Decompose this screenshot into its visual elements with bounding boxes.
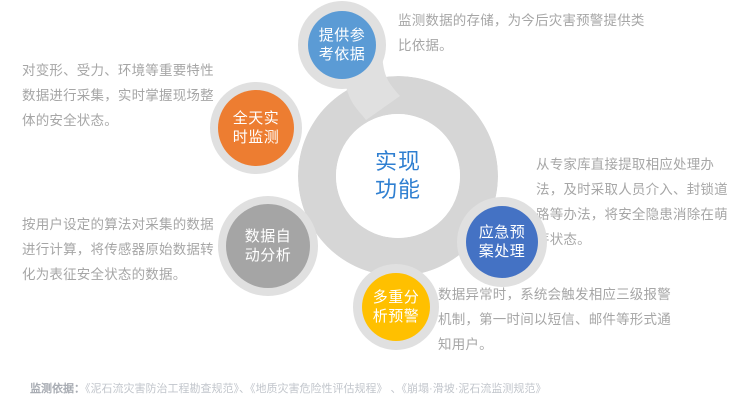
- function-hub-diagram: 实现 功能 提供参 考依据 全天实 时监测 数据自 动分析 多重分 析预警 应急…: [200, 0, 600, 370]
- footer-note-label: 监测依据：: [30, 383, 85, 395]
- footer-note-text: 《泥石流灾害防治工程勘查规范》、《地质灾害危险性评估规程》 、《崩塌·滑坡·泥石…: [85, 383, 546, 395]
- description-data-analysis: 按用户设定的算法对采集的数据进行计算，将传感器原始数据转化为表征安全状态的数据。: [22, 212, 218, 287]
- node-circle-reference[interactable]: [308, 11, 376, 79]
- footer-note: 监测依据：《泥石流灾害防治工程勘查规范》、《地质灾害危险性评估规程》 、《崩塌·…: [30, 381, 546, 397]
- node-circle-alarm[interactable]: [362, 273, 430, 341]
- slide-canvas: 对变形、受力、环境等重要特性数据进行采集，实时掌握现场整体的安全状态。 按用户设…: [0, 0, 744, 411]
- hub-circle: [336, 114, 460, 238]
- description-data-acquisition: 对变形、受力、环境等重要特性数据进行采集，实时掌握现场整体的安全状态。: [22, 58, 218, 133]
- node-circle-monitor[interactable]: [218, 90, 294, 166]
- node-circle-emergency[interactable]: [466, 206, 538, 278]
- node-circle-analyze[interactable]: [226, 204, 310, 288]
